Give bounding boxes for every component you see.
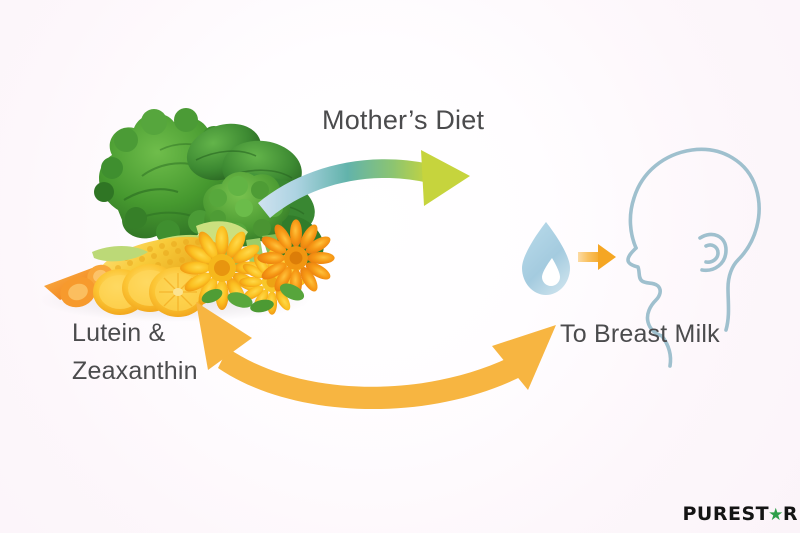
droplet-to-baby-arrow [578,244,616,270]
to-breast-milk-label: To Breast Milk [560,320,720,349]
milk-to-baby-group [0,0,800,533]
star-icon: ★ [768,507,784,524]
lutein-label-line1: Lutein & [72,319,165,347]
lutein-label-line2: Zeaxanthin [72,352,272,390]
purestar-logo: PUREST ★ R [683,503,799,525]
infographic-canvas: Mother’s Diet To Breast Milk Lutein & Ze… [0,0,800,533]
logo-text-before: PUREST [683,503,770,525]
milk-droplet [522,222,570,295]
lutein-zeaxanthin-label: Lutein & Zeaxanthin [72,314,272,390]
mothers-diet-label: Mother’s Diet [322,105,484,136]
logo-text-after: R [783,503,798,525]
